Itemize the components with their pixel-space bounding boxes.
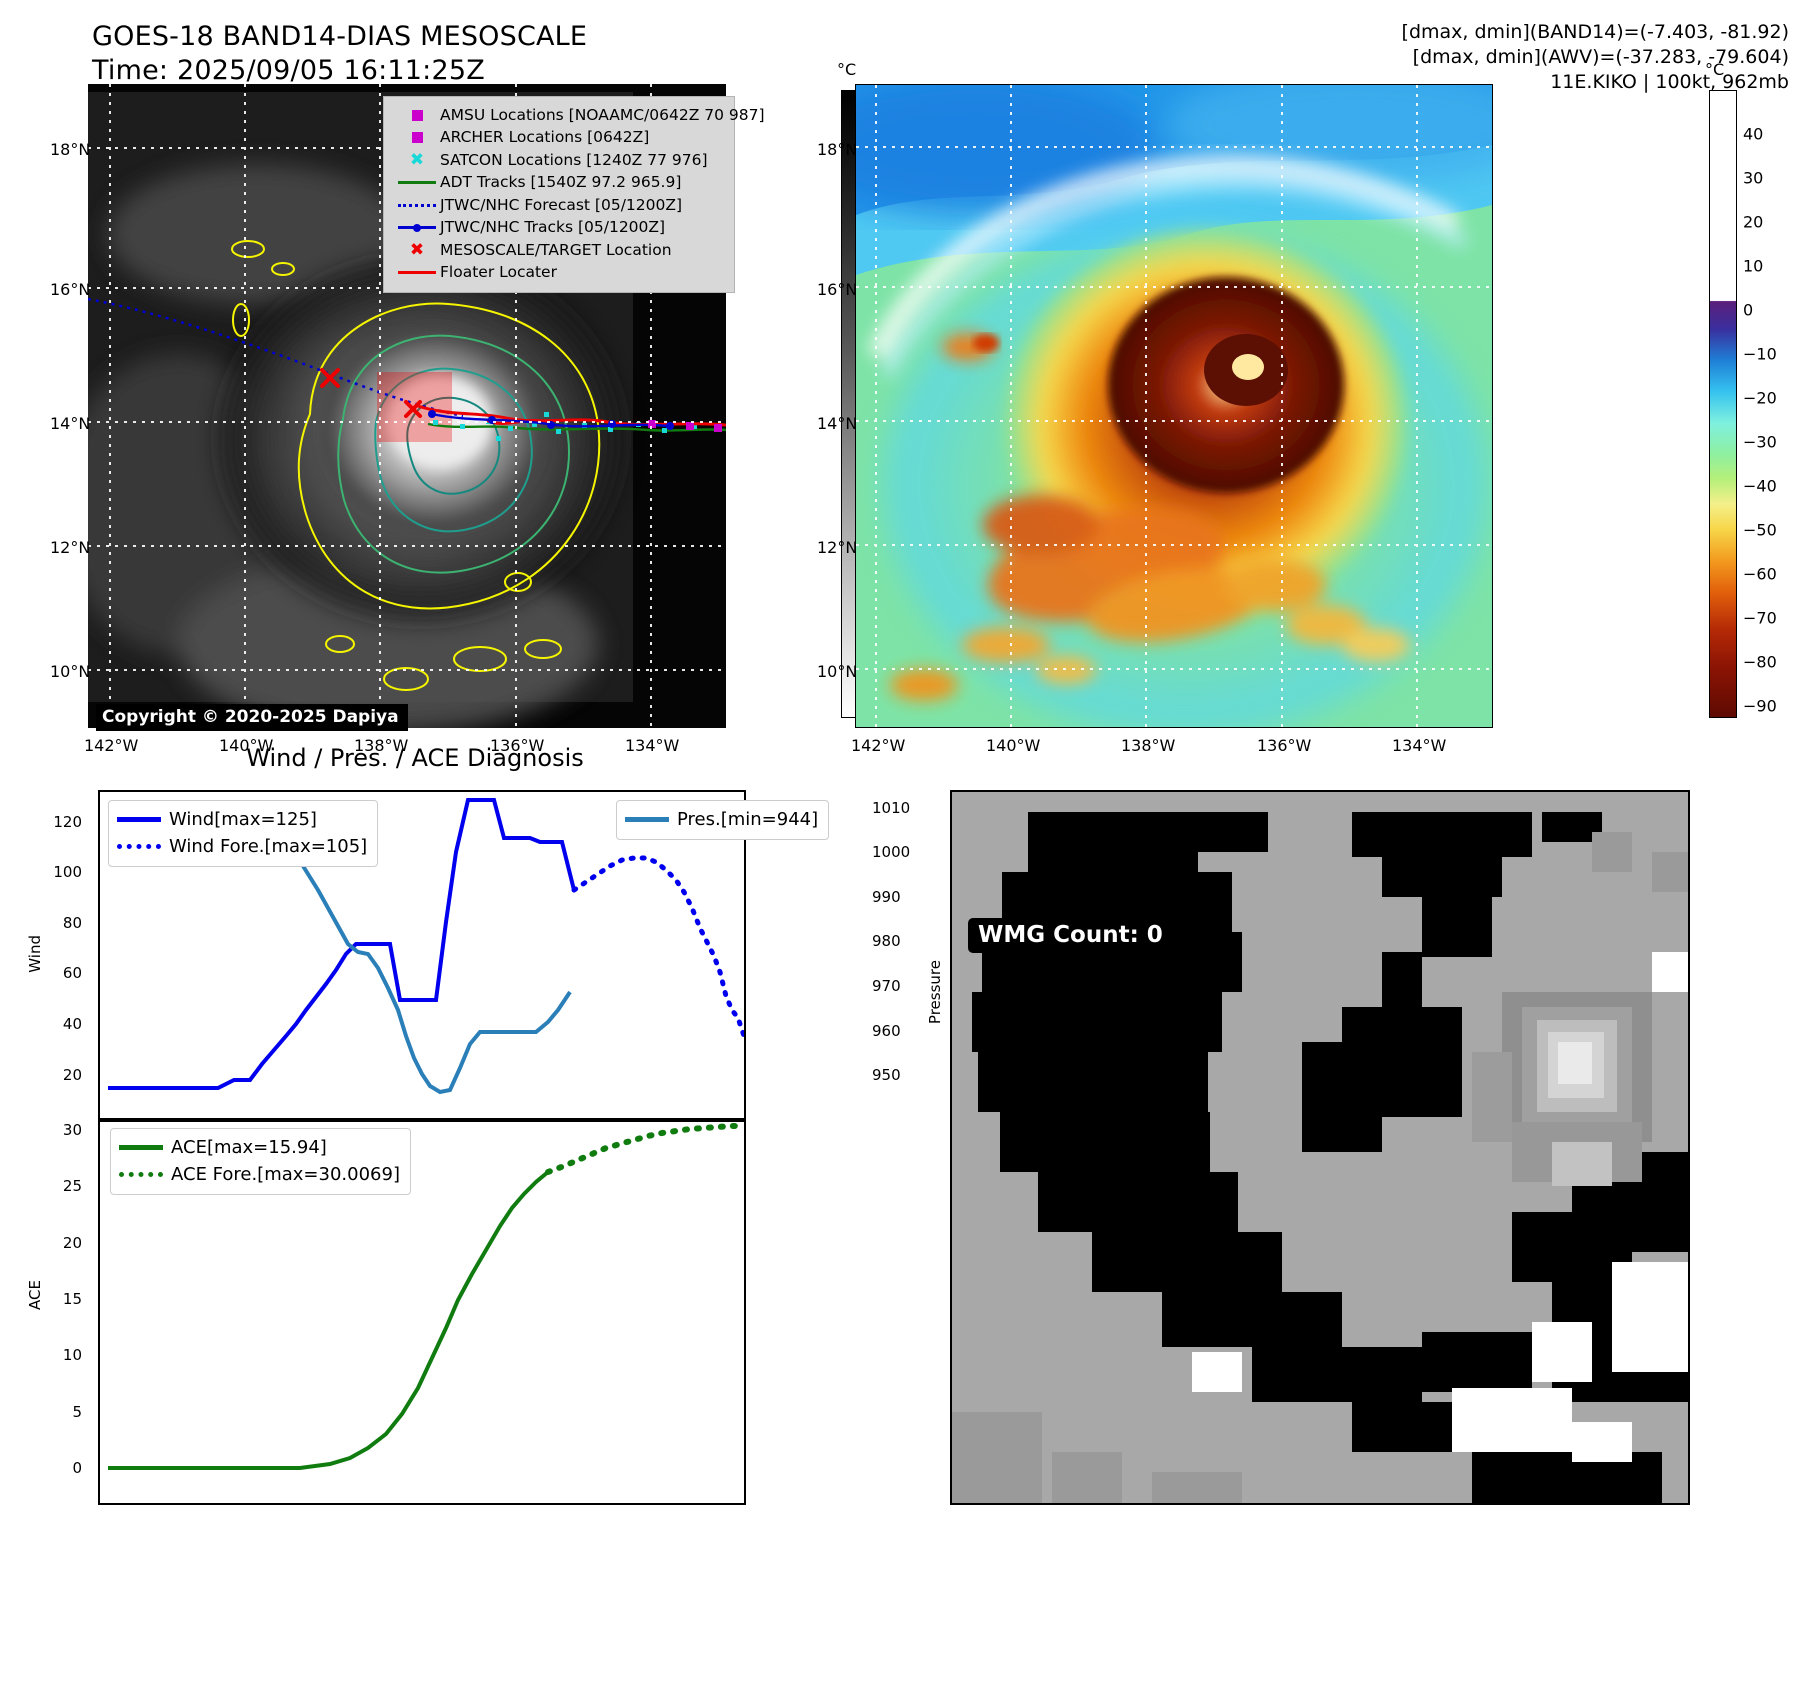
legend-item-jtwc-tracks[interactable]: JTWC/NHC Tracks [05/1200Z]: [394, 216, 726, 238]
pres-ytick-960: 960: [872, 1022, 901, 1040]
cb-tick: −80: [1743, 653, 1777, 672]
lat-tick-12n-right: 12°N: [817, 538, 857, 557]
lat-tick-18n: 18°N: [50, 140, 90, 159]
line-marker-icon: [394, 264, 440, 282]
lat-tick-16n-right: 16°N: [817, 280, 857, 299]
lat-tick-12n: 12°N: [50, 538, 90, 557]
legend-item-wind[interactable]: Wind[max=125]: [117, 806, 367, 833]
square-marker-icon: [394, 129, 440, 147]
wmg-imagery: [952, 792, 1688, 1503]
legend-label: Wind Fore.[max=105]: [169, 833, 367, 860]
wind-axis-label: Wind: [26, 935, 44, 973]
legend-item-mesoscale-target[interactable]: ✖ MESOSCALE/TARGET Location: [394, 239, 726, 261]
pressure-axis-label: Pressure: [926, 960, 944, 1024]
legend-item-ace[interactable]: ACE[max=15.94]: [119, 1134, 400, 1161]
pres-ytick-980: 980: [872, 932, 901, 950]
line-marker-icon: [394, 174, 440, 192]
cb-tick: −90: [1743, 697, 1777, 716]
x-marker-icon: ✖: [394, 151, 440, 169]
line-point-marker-icon: [394, 219, 440, 237]
ace-ytick-30: 30: [20, 1121, 82, 1139]
ace-ytick-10: 10: [20, 1346, 82, 1364]
colorbar-gradient: [1709, 90, 1737, 718]
pres-ytick-1010: 1010: [872, 799, 910, 817]
wind-ytick-40: 40: [20, 1015, 82, 1033]
pres-ytick-1000: 1000: [872, 843, 910, 861]
ace-chart-legend[interactable]: ACE[max=15.94] ACE Fore.[max=30.0069]: [110, 1128, 411, 1195]
legend-label: ACE[max=15.94]: [171, 1134, 327, 1161]
line-marker-icon: [119, 1145, 171, 1150]
legend-item-amsu[interactable]: AMSU Locations [NOAAMC/0642Z 70 987]: [394, 104, 726, 126]
ace-ytick-25: 25: [20, 1177, 82, 1195]
legend-item-archer[interactable]: ARCHER Locations [0642Z]: [394, 126, 726, 148]
lon-tick-140w-right: 140°W: [986, 736, 1040, 755]
dotted-line-marker-icon: [117, 844, 169, 849]
legend-label: MESOSCALE/TARGET Location: [440, 239, 672, 261]
wmg-count-badge: WMG Count: 0: [968, 918, 1175, 953]
wmg-classification-panel[interactable]: [950, 790, 1690, 1505]
cb-tick: −30: [1743, 433, 1777, 452]
map-legend[interactable]: AMSU Locations [NOAAMC/0642Z 70 987] ARC…: [383, 96, 735, 293]
line-marker-icon: [117, 817, 169, 822]
cb-tick: −40: [1743, 477, 1777, 496]
cb-tick: 0: [1743, 301, 1753, 320]
lat-tick-14n-right: 14°N: [817, 414, 857, 433]
wind-ytick-20: 20: [20, 1066, 82, 1084]
legend-label: Floater Locater: [440, 261, 557, 283]
copyright-notice: Copyright © 2020-2025 Dapiya: [96, 704, 408, 731]
cb-tick: 20: [1743, 213, 1763, 232]
lat-tick-10n: 10°N: [50, 662, 90, 681]
legend-item-wind-forecast[interactable]: Wind Fore.[max=105]: [117, 833, 367, 860]
enhanced-ir-map[interactable]: [855, 84, 1493, 728]
colorbar-unit: °C: [1705, 60, 1724, 79]
legend-item-ace-forecast[interactable]: ACE Fore.[max=30.0069]: [119, 1161, 400, 1188]
legend-item-floater-locater[interactable]: Floater Locater: [394, 261, 726, 283]
pressure-chart-legend[interactable]: Pres.[min=944]: [616, 800, 829, 840]
legend-item-pressure[interactable]: Pres.[min=944]: [625, 806, 818, 833]
square-marker-icon: [394, 106, 440, 124]
pres-ytick-990: 990: [872, 888, 901, 906]
legend-label: ARCHER Locations [0642Z]: [440, 126, 649, 148]
dotted-line-marker-icon: [119, 1172, 171, 1177]
x-marker-icon: ✖: [394, 241, 440, 259]
wind-ytick-80: 80: [20, 914, 82, 932]
lat-tick-18n-right: 18°N: [817, 140, 857, 159]
page-title: GOES-18 BAND14-DIAS MESOSCALE Time: 2025…: [92, 20, 587, 88]
diagnosis-chart-title: Wind / Pres. / ACE Diagnosis: [0, 744, 830, 772]
cb-tick: 30: [1743, 169, 1763, 188]
legend-label: SATCON Locations [1240Z 77 976]: [440, 149, 708, 171]
legend-item-adt[interactable]: ADT Tracks [1540Z 97.2 965.9]: [394, 171, 726, 193]
cb-tick: 40: [1743, 125, 1763, 144]
wind-chart-legend[interactable]: Wind[max=125] Wind Fore.[max=105]: [108, 800, 378, 867]
ace-ytick-20: 20: [20, 1234, 82, 1252]
legend-label: AMSU Locations [NOAAMC/0642Z 70 987]: [440, 104, 765, 126]
enhanced-ir-imagery: [856, 85, 1492, 727]
legend-item-jtwc-forecast[interactable]: JTWC/NHC Forecast [05/1200Z]: [394, 194, 726, 216]
cb-tick: −60: [1743, 565, 1777, 584]
ace-ytick-0: 0: [20, 1459, 82, 1477]
lon-tick-138w-right: 138°W: [1121, 736, 1175, 755]
cb-tick: −70: [1743, 609, 1777, 628]
ace-axis-label: ACE: [26, 1280, 44, 1310]
cb-tick: −10: [1743, 345, 1777, 364]
dotted-line-marker-icon: [394, 196, 440, 214]
enhanced-ir-colorbar: °C 40 30 20 10 0 −10 −20 −30 −40 −50 −60…: [1709, 90, 1737, 718]
legend-label: ADT Tracks [1540Z 97.2 965.9]: [440, 171, 681, 193]
lon-tick-134w-right: 134°W: [1392, 736, 1446, 755]
lat-tick-16n: 16°N: [50, 280, 90, 299]
pres-ytick-970: 970: [872, 977, 901, 995]
lat-tick-10n-right: 10°N: [817, 662, 857, 681]
wind-ytick-100: 100: [20, 863, 82, 881]
legend-item-satcon[interactable]: ✖ SATCON Locations [1240Z 77 976]: [394, 149, 726, 171]
lon-tick-136w-right: 136°W: [1257, 736, 1311, 755]
line-marker-icon: [625, 817, 677, 822]
lon-tick-142w-right: 142°W: [851, 736, 905, 755]
pres-ytick-950: 950: [872, 1066, 901, 1084]
lat-tick-14n: 14°N: [50, 414, 90, 433]
ace-ytick-5: 5: [20, 1403, 82, 1421]
legend-label: JTWC/NHC Tracks [05/1200Z]: [440, 216, 665, 238]
cb-tick: −50: [1743, 521, 1777, 540]
legend-label: Wind[max=125]: [169, 806, 317, 833]
colorbar-unit: °C: [837, 60, 856, 79]
legend-label: JTWC/NHC Forecast [05/1200Z]: [440, 194, 682, 216]
cb-tick: 10: [1743, 257, 1763, 276]
cb-tick: −20: [1743, 389, 1777, 408]
wind-ytick-120: 120: [20, 813, 82, 831]
legend-label: Pres.[min=944]: [677, 806, 818, 833]
legend-label: ACE Fore.[max=30.0069]: [171, 1161, 400, 1188]
